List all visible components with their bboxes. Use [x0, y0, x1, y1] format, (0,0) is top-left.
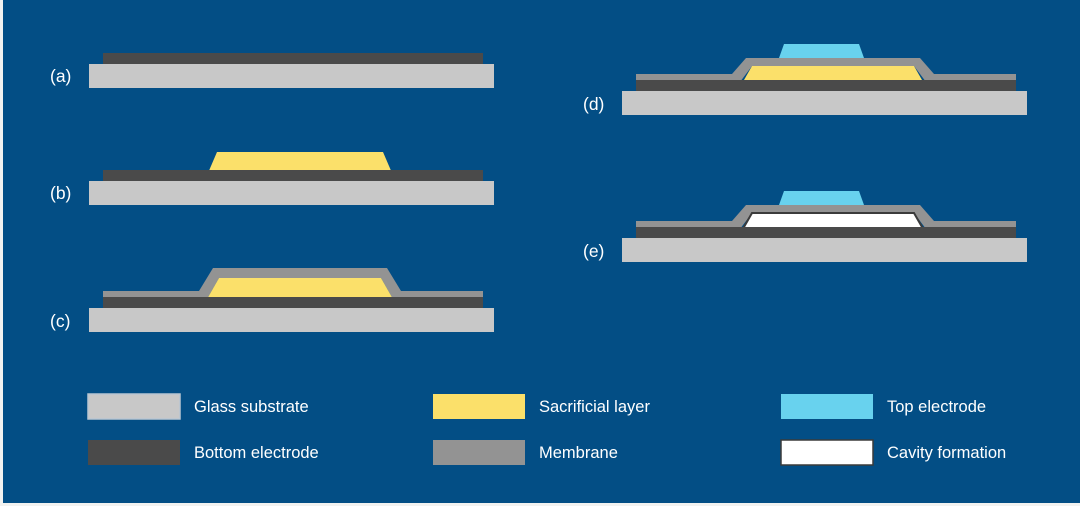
panel-c-sacrificial-layer [207, 278, 393, 299]
legend: Glass substrate Bottom electrode Sacrifi… [88, 394, 1006, 465]
bottom-electrode-swatch [88, 440, 180, 465]
legend-item-sacrificial-layer: Sacrificial layer [433, 394, 650, 419]
legend-label-cavity-formation: Cavity formation [887, 444, 1006, 462]
panel-b-glass-substrate [89, 181, 494, 205]
process-flow-diagram: (a) (b) (c) (d) [3, 0, 1080, 506]
legend-label-membrane: Membrane [539, 444, 618, 462]
panel-c-bottom-electrode [103, 297, 483, 309]
panel-c-label: (c) [50, 311, 70, 331]
panel-a-glass-substrate [89, 64, 494, 88]
legend-item-cavity-formation: Cavity formation [781, 440, 1006, 465]
cavity-formation-swatch [781, 440, 873, 465]
panel-d-glass-substrate [622, 91, 1027, 115]
legend-label-bottom-electrode: Bottom electrode [194, 444, 319, 462]
figure-canvas: (a) (b) (c) (d) [0, 0, 1080, 506]
panel-b-sacrificial-layer [208, 152, 392, 173]
legend-item-membrane: Membrane [433, 440, 618, 465]
sacrificial-layer-swatch [433, 394, 525, 419]
glass-substrate-swatch [88, 394, 180, 419]
top-electrode-swatch [781, 394, 873, 419]
legend-item-top-electrode: Top electrode [781, 394, 986, 419]
panel-e-label: (e) [583, 241, 604, 261]
legend-label-sacrificial-layer: Sacrificial layer [539, 398, 650, 416]
panel-b: (b) [50, 152, 494, 205]
panel-a: (a) [50, 53, 494, 88]
legend-item-bottom-electrode: Bottom electrode [88, 440, 319, 465]
legend-label-top-electrode: Top electrode [887, 398, 986, 416]
panel-b-label: (b) [50, 183, 71, 203]
panel-a-label: (a) [50, 66, 71, 86]
panel-d-label: (d) [583, 94, 604, 114]
panel-d-bottom-electrode [636, 80, 1016, 92]
panel-a-bottom-electrode [103, 53, 483, 65]
legend-label-glass-substrate: Glass substrate [194, 398, 309, 416]
panel-e-glass-substrate [622, 238, 1027, 262]
panel-c-glass-substrate [89, 308, 494, 332]
legend-item-glass-substrate: Glass substrate [88, 394, 309, 419]
panel-e-top-electrode [779, 191, 864, 205]
panel-c: (c) [50, 268, 494, 332]
panel-e: (e) [583, 191, 1027, 262]
panel-d: (d) [583, 44, 1027, 115]
panel-e-bottom-electrode [636, 227, 1016, 239]
membrane-swatch [433, 440, 525, 465]
panel-d-top-electrode [779, 44, 864, 58]
panel-b-bottom-electrode [103, 170, 483, 182]
